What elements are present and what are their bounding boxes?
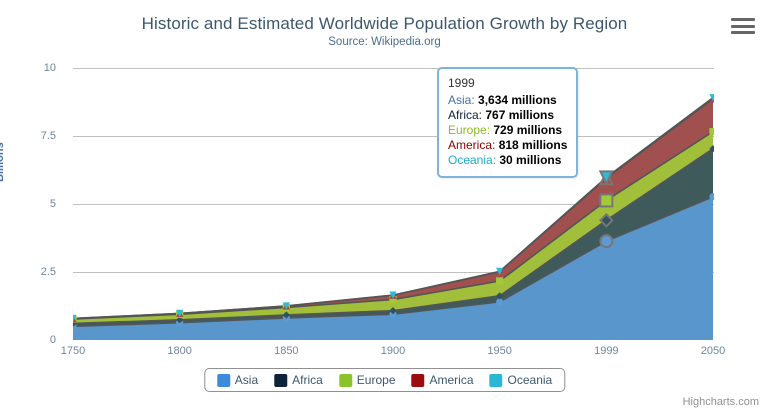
x-axis-tick-label: 1900 xyxy=(363,345,423,357)
tooltip-header: 1999 xyxy=(448,76,567,90)
x-axis-tick-label: 1750 xyxy=(43,345,103,357)
tooltip-series-name: America: xyxy=(448,138,499,152)
tooltip-row: America: 818 millions xyxy=(448,138,567,153)
y-axis-tick-label: 10 xyxy=(0,62,56,74)
x-axis-tick-label: 1850 xyxy=(256,345,316,357)
legend-item-oceania[interactable]: Oceania xyxy=(490,373,553,387)
legend-label: America xyxy=(430,373,474,387)
legend-label: Asia xyxy=(235,373,258,387)
data-point-marker[interactable] xyxy=(600,235,612,247)
legend-label: Africa xyxy=(292,373,323,387)
x-axis-tick-label: 1800 xyxy=(150,345,210,357)
chart-subtitle: Source: Wikipedia.org xyxy=(0,36,769,48)
hamburger-menu-icon-bar-3 xyxy=(731,31,755,34)
tooltip-series-value: 818 millions xyxy=(499,138,568,152)
hamburger-menu-icon-bar-1 xyxy=(731,18,755,21)
tooltip-series-name: Asia: xyxy=(448,93,478,107)
data-point-marker[interactable] xyxy=(600,194,612,206)
tooltip-rows: Asia: 3,634 millionsAfrica: 767 millions… xyxy=(448,93,567,168)
legend[interactable]: AsiaAfricaEuropeAmericaOceania xyxy=(204,368,565,392)
tooltip-row: Asia: 3,634 millions xyxy=(448,93,567,108)
credits-link[interactable]: Highcharts.com xyxy=(683,396,759,408)
chart-container: Historic and Estimated Worldwide Populat… xyxy=(0,0,769,416)
legend-swatch xyxy=(412,374,425,387)
legend-label: Europe xyxy=(357,373,396,387)
legend-item-asia[interactable]: Asia xyxy=(217,373,258,387)
tooltip-series-value: 3,634 millions xyxy=(478,93,557,107)
legend-item-africa[interactable]: Africa xyxy=(274,373,323,387)
hamburger-menu-icon-bar-2 xyxy=(731,25,755,28)
legend-item-europe[interactable]: Europe xyxy=(339,373,396,387)
x-axis-tick-label: 2050 xyxy=(683,345,743,357)
y-axis-tick-label: 5 xyxy=(0,198,56,210)
tooltip-row: Africa: 767 millions xyxy=(448,108,567,123)
legend-swatch xyxy=(217,374,230,387)
tooltip-series-name: Europe: xyxy=(448,123,493,137)
tooltip-series-name: Oceania: xyxy=(448,153,499,167)
y-axis-tick-label: 7.5 xyxy=(0,130,56,142)
tooltip-series-value: 729 millions xyxy=(493,123,562,137)
legend-item-america[interactable]: America xyxy=(412,373,474,387)
legend-swatch xyxy=(490,374,503,387)
y-axis-tick-label: 2.5 xyxy=(0,266,56,278)
tooltip-series-value: 30 millions xyxy=(499,153,561,167)
data-point-marker[interactable] xyxy=(709,128,714,135)
tooltip-row: Europe: 729 millions xyxy=(448,123,567,138)
x-axis-tick-label: 1950 xyxy=(470,345,530,357)
tooltip-series-value: 767 millions xyxy=(485,108,554,122)
legend-swatch xyxy=(274,374,287,387)
chart-svg xyxy=(73,68,714,340)
export-menu-button[interactable] xyxy=(731,17,755,35)
legend-label: Oceania xyxy=(508,373,553,387)
chart-title: Historic and Estimated Worldwide Populat… xyxy=(0,14,769,34)
plot-area xyxy=(73,68,714,340)
tooltip-row: Oceania: 30 millions xyxy=(448,153,567,168)
data-point-marker[interactable] xyxy=(496,277,503,284)
x-axis-tick-label: 1999 xyxy=(576,345,636,357)
legend-swatch xyxy=(339,374,352,387)
y-axis-title: Billions xyxy=(0,142,6,182)
tooltip: 1999 Asia: 3,634 millionsAfrica: 767 mil… xyxy=(437,67,578,178)
tooltip-series-name: Africa: xyxy=(448,108,485,122)
